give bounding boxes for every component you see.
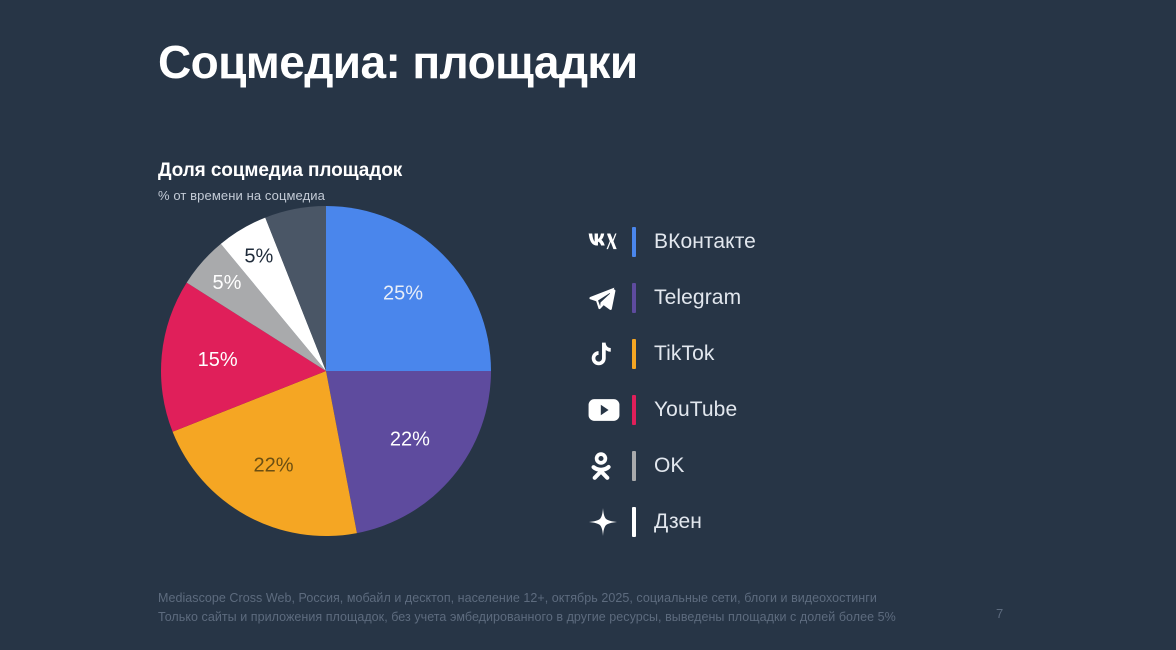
footnote-line-2: Только сайты и приложения площадок, без … — [158, 608, 1038, 627]
chart-legend: ВКонтактеTelegramTikTokYouTubeOKДзен — [588, 214, 938, 550]
legend-color-swatch — [632, 339, 636, 369]
chart-title: Доля соцмедиа площадок — [158, 160, 578, 183]
legend-item[interactable]: Дзен — [588, 494, 938, 550]
page-title: Соцмедиа: площадки — [158, 36, 638, 89]
pie-slice-label: 15% — [198, 349, 238, 371]
vk-icon — [588, 225, 632, 259]
legend-item-label: OK — [654, 454, 685, 478]
pie-chart: 25%22%22%15%5%5% — [160, 205, 492, 537]
ok-icon — [588, 449, 632, 483]
legend-item[interactable]: TikTok — [588, 326, 938, 382]
legend-item-label: ВКонтакте — [654, 230, 756, 254]
dzen-icon — [588, 505, 632, 539]
chart-heading: Доля соцмедиа площадок % от времени на с… — [158, 160, 578, 203]
pie-slice-label: 5% — [244, 246, 273, 268]
pie-slice-label: 22% — [253, 455, 293, 477]
legend-item[interactable]: OK — [588, 438, 938, 494]
legend-item-label: TikTok — [654, 342, 715, 366]
slide-root: Соцмедиа: площадки Доля соцмедиа площадо… — [0, 0, 1176, 650]
pie-slice-label: 5% — [213, 272, 242, 294]
chart-subtitle: % от времени на соцмедиа — [158, 188, 578, 203]
pie-slice-label: 22% — [390, 429, 430, 451]
legend-item[interactable]: ВКонтакте — [588, 214, 938, 270]
telegram-icon — [588, 281, 632, 315]
footnote: Mediascope Cross Web, Россия, мобайл и д… — [158, 589, 1038, 627]
legend-color-swatch — [632, 507, 636, 537]
legend-item[interactable]: Telegram — [588, 270, 938, 326]
pie-slice-label: 25% — [383, 282, 423, 304]
legend-item-label: YouTube — [654, 398, 737, 422]
page-number: 7 — [996, 606, 1003, 621]
legend-item-label: Дзен — [654, 510, 702, 534]
legend-item-label: Telegram — [654, 286, 741, 310]
legend-color-swatch — [632, 283, 636, 313]
tiktok-icon — [588, 337, 632, 371]
pie-chart-svg: 25%22%22%15%5%5% — [160, 205, 492, 537]
legend-item[interactable]: YouTube — [588, 382, 938, 438]
legend-color-swatch — [632, 227, 636, 257]
youtube-icon — [588, 393, 632, 427]
footnote-line-1: Mediascope Cross Web, Россия, мобайл и д… — [158, 589, 1038, 608]
legend-color-swatch — [632, 451, 636, 481]
legend-color-swatch — [632, 395, 636, 425]
